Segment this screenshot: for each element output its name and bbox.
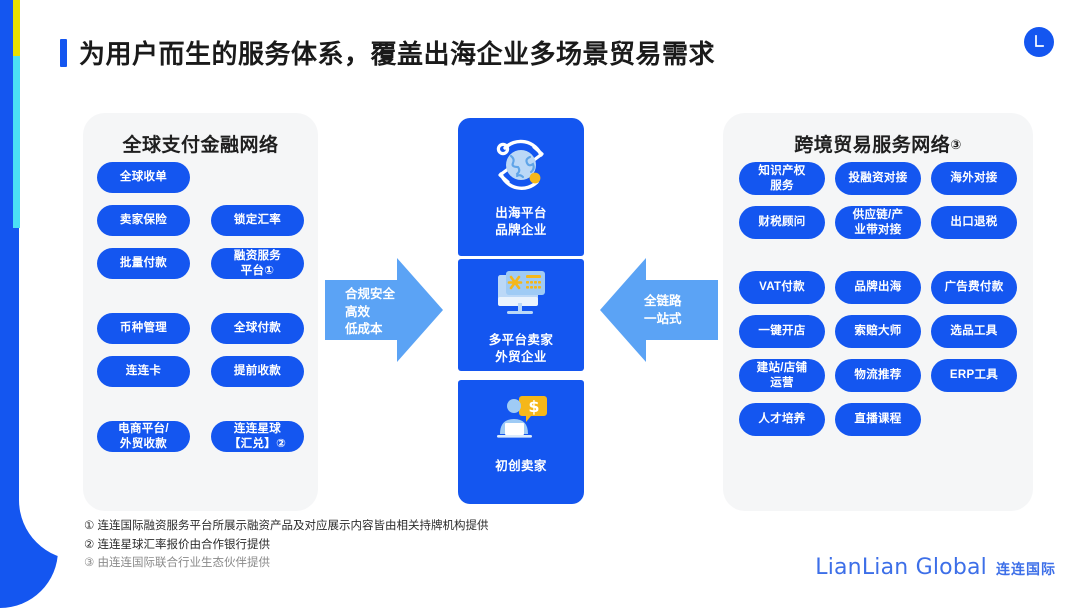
pill-site-store-operation[interactable]: 建站/店铺 运营 bbox=[739, 359, 825, 392]
pill-placeholder bbox=[931, 403, 1017, 436]
pill-brand-going-global[interactable]: 品牌出海 bbox=[835, 271, 921, 304]
pill-currency-management[interactable]: 币种管理 bbox=[97, 313, 190, 344]
center-card-2-label: 多平台卖家 外贸企业 bbox=[489, 332, 554, 365]
monitor-card-icon bbox=[490, 269, 552, 323]
brand-logo-icon bbox=[1024, 27, 1054, 57]
accent-bar-cyan bbox=[13, 56, 20, 228]
pill-tax-advisory[interactable]: 财税顾问 bbox=[739, 206, 825, 239]
page-title: 为用户而生的服务体系，覆盖出海企业多场景贸易需求 bbox=[79, 34, 715, 71]
right-panel-title: 跨境贸易服务网络③ bbox=[723, 130, 1033, 157]
accent-bar-yellow bbox=[13, 0, 20, 56]
arrow-left-label: 合规安全 高效 低成本 bbox=[345, 286, 395, 339]
pill-batch-payment[interactable]: 批量付款 bbox=[97, 248, 190, 279]
center-card-multiplatform-seller[interactable]: 多平台卖家 外贸企业 bbox=[458, 259, 584, 371]
logo-text-en: LianLian Global bbox=[815, 555, 987, 580]
pill-product-selection-tool[interactable]: 选品工具 bbox=[931, 315, 1017, 348]
panel-cross-border-trade-network: 跨境贸易服务网络③ 知识产权 服务 投融资对接 海外对接 财税顾问 供应链/产 … bbox=[723, 113, 1033, 511]
pill-one-click-store-opening[interactable]: 一键开店 bbox=[739, 315, 825, 348]
pill-claim-master[interactable]: 索赔大师 bbox=[835, 315, 921, 348]
pill-supply-chain-industrial-belt[interactable]: 供应链/产 业带对接 bbox=[835, 206, 921, 239]
arrow-left-to-center: 合规安全 高效 低成本 bbox=[325, 258, 443, 362]
footnote-2: ② 连连星球汇率报价由合作银行提供 bbox=[84, 536, 489, 555]
pill-logistics-recommendation[interactable]: 物流推荐 bbox=[835, 359, 921, 392]
right-panel-title-superscript: ③ bbox=[950, 137, 962, 152]
pill-global-payout[interactable]: 全球付款 bbox=[211, 313, 304, 344]
pill-early-collection[interactable]: 提前收款 bbox=[211, 356, 304, 387]
left-panel-title: 全球支付金融网络 bbox=[83, 130, 318, 157]
panel-global-payment-network: 全球支付金融网络 全球收单 卖家保险 锁定汇率 批量付款 融资服务 平台① 币种… bbox=[83, 113, 318, 511]
pill-placeholder bbox=[211, 162, 304, 193]
pill-seller-insurance[interactable]: 卖家保险 bbox=[97, 205, 190, 236]
svg-text:$: $ bbox=[528, 397, 539, 416]
right-panel-pill-grid: 知识产权 服务 投融资对接 海外对接 财税顾问 供应链/产 业带对接 出口退税 … bbox=[739, 162, 1017, 436]
left-panel-pill-grid: 全球收单 卖家保险 锁定汇率 批量付款 融资服务 平台① 币种管理 全球付款 连… bbox=[97, 162, 304, 452]
person-laptop-dollar-icon: $ bbox=[490, 392, 552, 446]
pill-lianlian-card[interactable]: 连连卡 bbox=[97, 356, 190, 387]
pill-global-acquiring[interactable]: 全球收单 bbox=[97, 162, 190, 193]
right-panel-title-text: 跨境贸易服务网络 bbox=[794, 135, 950, 156]
center-card-overseas-platform-brand[interactable]: 出海平台 品牌企业 bbox=[458, 118, 584, 256]
pill-talent-development[interactable]: 人才培养 bbox=[739, 403, 825, 436]
arrow-right-label: 全链路 一站式 bbox=[644, 293, 682, 328]
pill-live-streaming-course[interactable]: 直播课程 bbox=[835, 403, 921, 436]
pill-ecommerce-foreign-trade-collection[interactable]: 电商平台/ 外贸收款 bbox=[97, 421, 190, 452]
grid-gap bbox=[739, 250, 1017, 260]
pill-lock-exchange-rate[interactable]: 锁定汇率 bbox=[211, 205, 304, 236]
pill-export-tax-rebate[interactable]: 出口退税 bbox=[931, 206, 1017, 239]
footnote-1: ① 连连国际融资服务平台所展示融资产品及对应展示内容皆由相关持牌机构提供 bbox=[84, 517, 489, 536]
pill-erp-tool[interactable]: ERP工具 bbox=[931, 359, 1017, 392]
pill-overseas-matching[interactable]: 海外对接 bbox=[931, 162, 1017, 195]
pill-lianlian-planet-exchange[interactable]: 连连星球 【汇兑】② bbox=[211, 421, 304, 452]
pill-advertising-fee-payment[interactable]: 广告费付款 bbox=[931, 271, 1017, 304]
footnotes: ① 连连国际融资服务平台所展示融资产品及对应展示内容皆由相关持牌机构提供 ② 连… bbox=[84, 517, 489, 573]
lianlian-global-logo: LianLian Global 连连国际 bbox=[815, 555, 1056, 580]
pill-ip-service[interactable]: 知识产权 服务 bbox=[739, 162, 825, 195]
page-title-row: 为用户而生的服务体系，覆盖出海企业多场景贸易需求 bbox=[60, 34, 715, 71]
center-card-3-label: 初创卖家 bbox=[495, 458, 547, 475]
center-card-startup-seller[interactable]: $ 初创卖家 bbox=[458, 380, 584, 504]
grid-gap bbox=[97, 399, 304, 409]
pill-investment-financing-matching[interactable]: 投融资对接 bbox=[835, 162, 921, 195]
footnote-3: ③ 由连连国际联合行业生态伙伴提供 bbox=[84, 554, 489, 573]
grid-gap bbox=[97, 291, 304, 301]
pill-vat-payment[interactable]: VAT付款 bbox=[739, 271, 825, 304]
pill-financing-service-platform[interactable]: 融资服务 平台① bbox=[211, 248, 304, 279]
logo-text-cn: 连连国际 bbox=[996, 559, 1056, 579]
slide-root: 为用户而生的服务体系，覆盖出海企业多场景贸易需求 全球支付金融网络 全球收单 卖… bbox=[0, 0, 1080, 608]
center-card-1-label: 出海平台 品牌企业 bbox=[495, 205, 547, 238]
arrow-right-to-center: 全链路 一站式 bbox=[600, 258, 718, 362]
globe-rotate-icon bbox=[489, 134, 553, 196]
title-accent-bar bbox=[60, 39, 67, 67]
